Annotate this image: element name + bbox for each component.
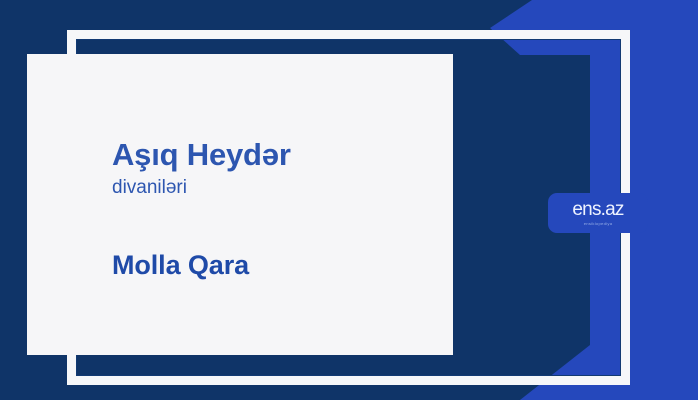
- poster-subtitle: divaniləri: [112, 178, 442, 199]
- poster-secondary-title: Molla Qara: [112, 250, 249, 281]
- poster-title: Aşıq Heydər: [112, 139, 442, 172]
- poster-canvas: Aşıq Heydər divaniləri Molla Qara ens.az…: [0, 0, 698, 400]
- ens-az-logo-badge[interactable]: ens.az ensiklopediya: [548, 193, 648, 233]
- logo-tagline: ensiklopediya: [584, 222, 613, 226]
- logo-wordmark: ens.az: [572, 200, 623, 219]
- content-card: Aşıq Heydər divaniləri Molla Qara: [27, 54, 453, 355]
- title-block: Aşıq Heydər divaniləri: [112, 139, 442, 198]
